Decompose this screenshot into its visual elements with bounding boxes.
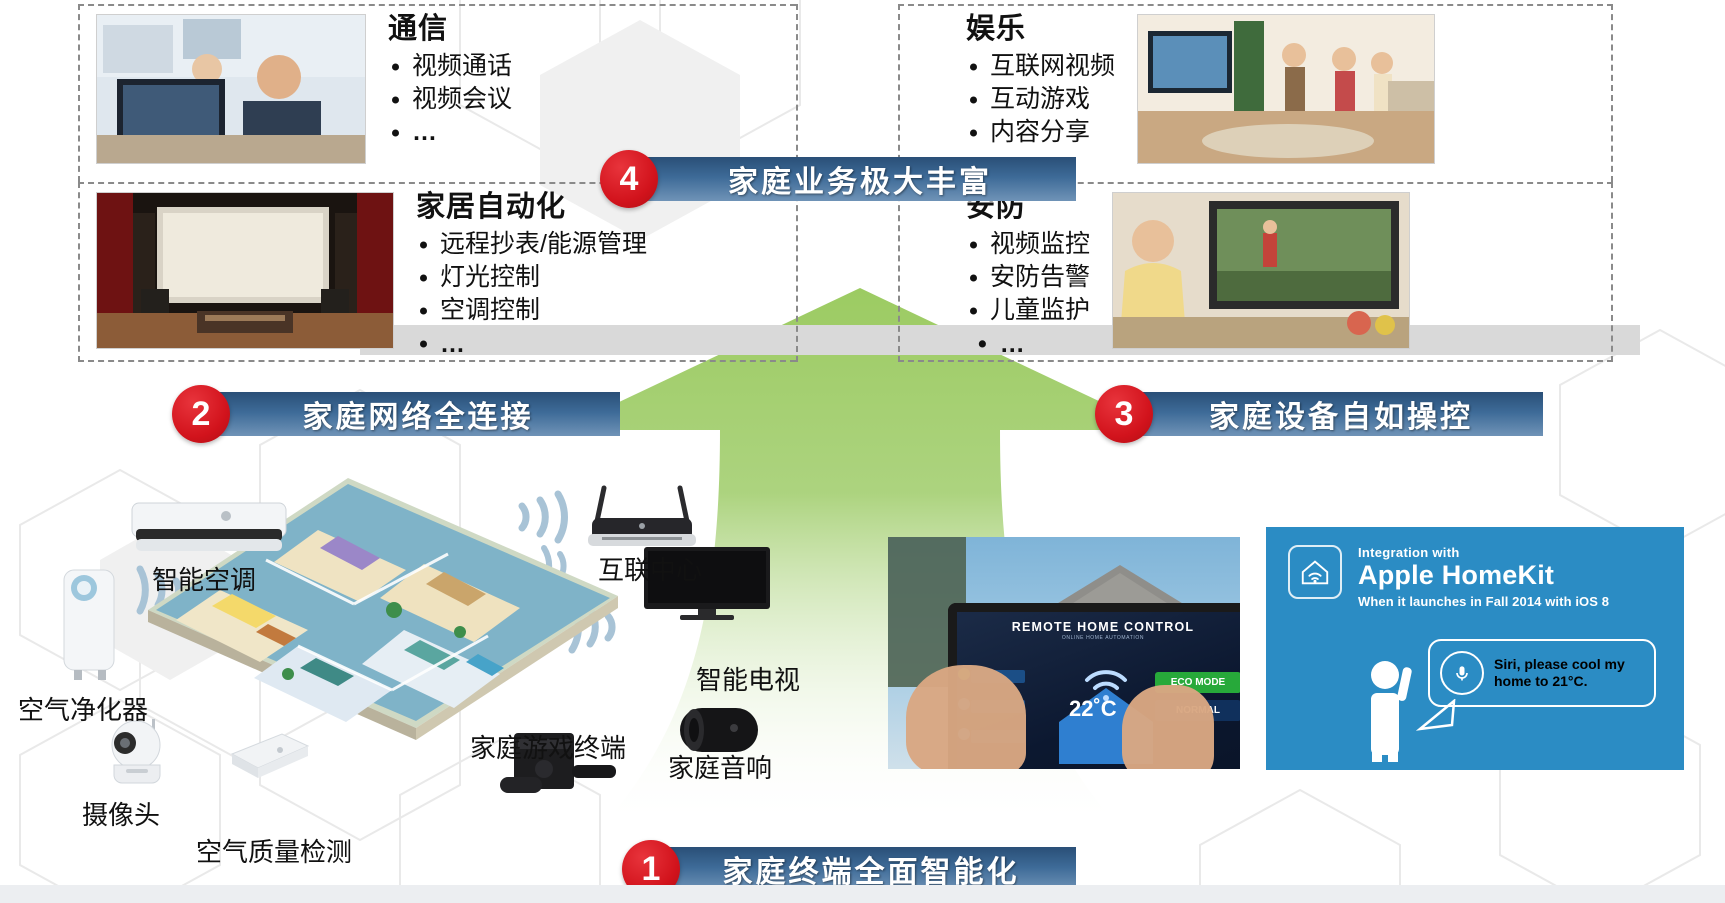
tablet-subtitle: ONLINE HOME AUTOMATION	[957, 635, 1240, 641]
list-item: 互动游戏	[966, 83, 1115, 116]
card-list-home-automation: 远程抄表/能源管理 灯光控制 空调控制 …	[416, 228, 647, 361]
homekit-line1: Integration with	[1358, 545, 1609, 560]
smart-air-conditioner-image	[130, 499, 288, 557]
banner-label-services: 家庭业务极大丰富	[728, 157, 992, 201]
list-item: 互联网视频	[966, 50, 1115, 83]
footer-strip	[0, 885, 1725, 903]
device-label-game-console: 家庭游戏终端	[470, 728, 626, 765]
device-label-tv: 智能电视	[696, 660, 800, 697]
remote-home-control-photo: REMOTE HOME CONTROL ONLINE HOME AUTOMATI…	[888, 537, 1240, 769]
air-purifier-image	[58, 560, 120, 684]
list-item: 视频监控	[966, 228, 1090, 261]
apple-homekit-panel: Integration with Apple HomeKit When it l…	[1266, 527, 1684, 770]
list-item: 空调控制	[416, 294, 647, 327]
card-title-communication: 通信	[388, 14, 512, 46]
entertainment-photo	[1137, 14, 1435, 164]
slide-canvas: 通信 视频通话 视频会议 …	[0, 0, 1725, 903]
banner-number-4: 4	[600, 150, 658, 208]
list-item: …	[388, 116, 512, 149]
device-label-air-quality: 空气质量检测	[196, 832, 352, 869]
card-list-security: 视频监控 安防告警 儿童监护	[966, 228, 1090, 328]
homekit-house-icon	[1288, 545, 1342, 599]
microphone-icon	[1440, 651, 1484, 695]
bubble-tail	[1416, 699, 1456, 735]
feature-card-communication: 通信 视频通话 视频会议 …	[96, 14, 512, 164]
list-item: 内容分享	[966, 116, 1115, 149]
siri-speech-bubble: Siri, please cool my home to 21°C.	[1428, 639, 1656, 707]
banner-label-network: 家庭网络全连接	[303, 392, 534, 436]
communication-photo	[96, 14, 366, 164]
home-automation-photo	[96, 192, 394, 349]
air-quality-sensor-image	[222, 728, 314, 784]
banner-control[interactable]: 3 家庭设备自如操控	[1095, 385, 1543, 443]
feature-card-entertainment: 娱乐 互联网视频 互动游戏 内容分享	[966, 14, 1435, 164]
security-photo	[1112, 192, 1410, 349]
list-item: 灯光控制	[416, 261, 647, 294]
list-item: 视频会议	[388, 83, 512, 116]
card-list-communication: 视频通话 视频会议 …	[388, 50, 512, 150]
device-label-camera: 摄像头	[82, 795, 160, 832]
security-list-ellipsis: • …	[978, 330, 1028, 359]
banner-number-3: 3	[1095, 385, 1153, 443]
card-title-entertainment: 娱乐	[966, 14, 1115, 46]
feature-card-security: 安防 视频监控 安防告警 儿童监护	[966, 192, 1410, 349]
tablet-temperature: 22˚C	[1069, 696, 1117, 722]
list-item: 视频通话	[388, 50, 512, 83]
hand-holding-tablet	[906, 665, 1026, 769]
tablet-title: REMOTE HOME CONTROL	[957, 620, 1240, 634]
card-list-entertainment: 互联网视频 互动游戏 内容分享	[966, 50, 1115, 150]
banner-services[interactable]: 4 家庭业务极大丰富	[600, 150, 1076, 208]
feature-card-home-automation: 家居自动化 远程抄表/能源管理 灯光控制 空调控制 …	[96, 192, 647, 361]
banner-number-2: 2	[172, 385, 230, 443]
banner-network[interactable]: 2 家庭网络全连接	[172, 385, 620, 443]
homekit-line3: When it launches in Fall 2014 with iOS 8	[1358, 594, 1609, 609]
device-label-air-purifier: 空气净化器	[18, 690, 148, 727]
list-item: …	[416, 328, 647, 361]
device-label-air-conditioner: 智能空调	[152, 560, 256, 597]
list-item: 远程抄表/能源管理	[416, 228, 647, 261]
siri-bubble-text: Siri, please cool my home to 21°C.	[1494, 656, 1644, 691]
device-label-router: 互联中心	[598, 550, 702, 587]
homekit-title: Apple HomeKit	[1358, 561, 1609, 589]
device-label-speaker: 家庭音响	[668, 748, 772, 785]
banner-label-control: 家庭设备自如操控	[1209, 392, 1473, 436]
list-item: 安防告警	[966, 261, 1090, 294]
hand-touching-screen	[1122, 685, 1214, 769]
list-item: 儿童监护	[966, 294, 1090, 327]
